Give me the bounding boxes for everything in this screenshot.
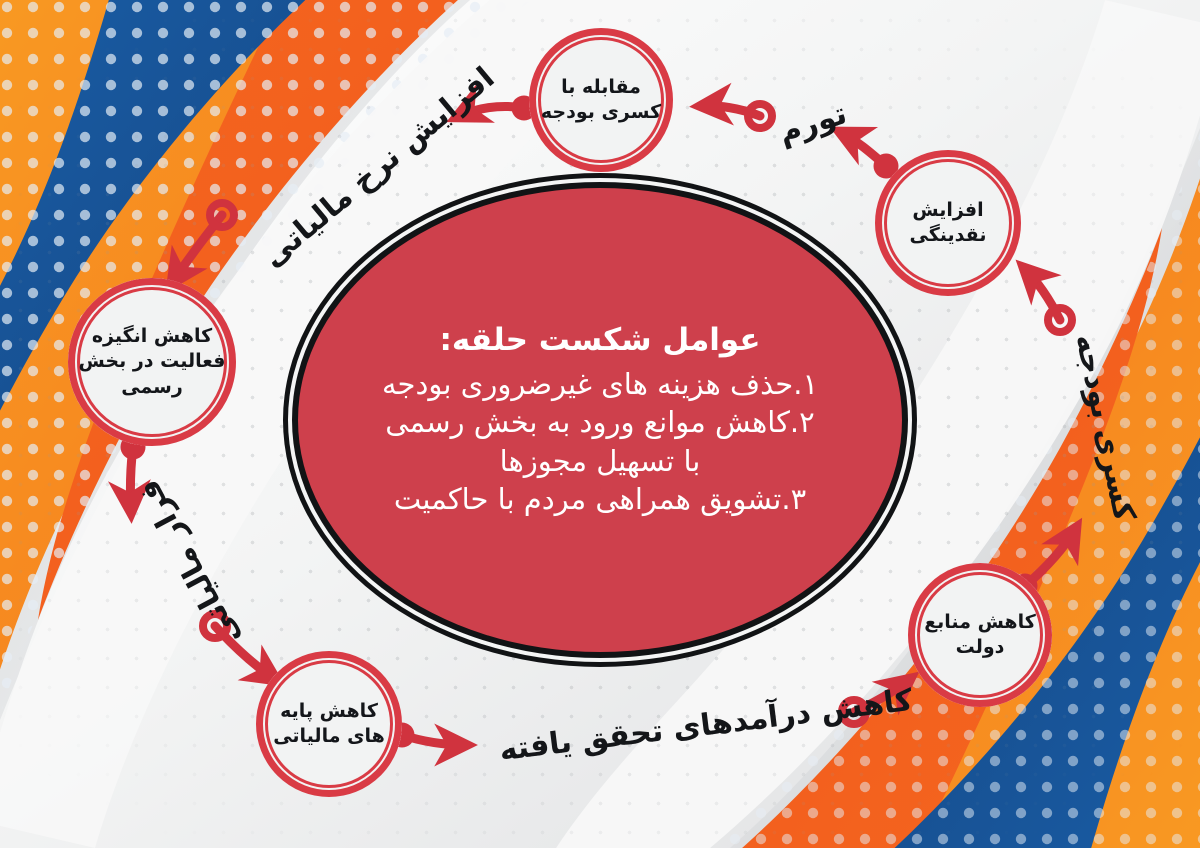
node-label: کاهش منابع دولت — [908, 610, 1052, 661]
node-tax-bases[interactable]: کاهش پایه های مالیاتی — [256, 651, 402, 797]
centre-title: عوامل شکست حلقه: — [439, 321, 760, 360]
centre-item-3: ۳.تشویق همراهی مردم با حاکمیت — [394, 480, 806, 519]
centre-ellipse: عوامل شکست حلقه: ۱.حذف هزینه های غیرضرور… — [283, 173, 917, 667]
node-budget-deficit-response[interactable]: مقابله با کسری بودجه — [529, 28, 673, 172]
centre-item-1: ۱.حذف هزینه های غیرضروری بودجه — [382, 365, 818, 404]
node-label: مقابله با کسری بودجه — [529, 75, 673, 126]
node-formal-sector-incentive[interactable]: کاهش انگیزه فعالیت در بخش رسمی — [68, 278, 236, 446]
centre-item-2: ۲.کاهش موانع ورود به بخش رسمی با تسهیل م… — [379, 403, 821, 480]
node-government-resources[interactable]: کاهش منابع دولت — [908, 563, 1052, 707]
node-label: کاهش انگیزه فعالیت در بخش رسمی — [68, 324, 236, 400]
node-label: افزایش نقدینگی — [875, 198, 1021, 249]
node-label: کاهش پایه های مالیاتی — [256, 699, 402, 750]
centre-text-block: عوامل شکست حلقه: ۱.حذف هزینه های غیرضرور… — [283, 173, 917, 667]
infographic-canvas: عوامل شکست حلقه: ۱.حذف هزینه های غیرضرور… — [0, 0, 1200, 848]
node-liquidity-growth[interactable]: افزایش نقدینگی — [875, 150, 1021, 296]
